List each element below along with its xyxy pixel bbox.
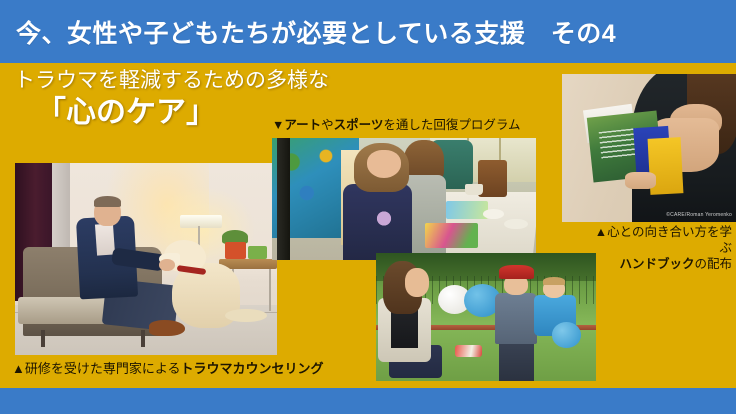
photo-counseling [15,163,277,355]
caption-handbook-bold: ハンドブック [619,257,694,271]
caption-art-program: ▼アートやスポーツを通した回復プログラム [272,118,521,133]
photo-counseling-dog-tail [225,309,267,322]
photo-art-cup [465,184,483,195]
photo-art-bowl-1 [483,209,504,219]
photo-balloon-boy1-legs [499,340,534,381]
photo-counseling-man-shoe [149,320,186,335]
photo-counseling-plant-pot-red [225,242,246,259]
photo-balloon-blue-small [552,322,581,348]
caption-art-bold-2: スポーツ [334,118,384,132]
photo-credit: ©CARE/Roman Yeromenko [666,212,732,218]
photo-balloon-activity [376,253,596,381]
caption-handbook: ▲心との向き合い方を学ぶ ハンドブックの配布 [586,224,732,272]
photo-art-painting-sheet-2 [446,201,488,218]
caption-art-tail: を通した回復プログラム [383,118,520,132]
caption-art-mid: や [321,118,334,132]
slide-footer-bar [0,388,736,414]
photo-handbook-fingers [625,172,656,190]
photo-counseling-lampshade [180,215,222,228]
photo-balloon-boy1-body [495,293,537,344]
caption-marker-up: ▲ [12,361,25,376]
photo-balloon-woman-face [405,268,429,296]
photo-art-child-1-shirt-print [372,206,396,230]
photo-balloon-boy2-hair [543,277,565,285]
photo-balloon-boy1-cap [499,265,534,279]
photo-counseling-sofa-leg-left [41,330,45,347]
caption-counseling-bold: トラウマカウンセリング [181,361,324,376]
photo-balloon-ground-object [455,345,481,357]
caption-handbook-line-2: ハンドブックの配布 [586,256,732,272]
caption-counseling-normal: 研修を受けた専門家による [25,361,181,376]
photo-counseling-man-hair [94,196,122,208]
caption-marker-down: ▼ [272,118,284,132]
photo-counseling-man-hand [159,259,175,271]
photo-art-workshop [272,138,536,260]
page-title: 今、女性や子どもたちが必要としている支援 その4 [16,14,616,50]
photo-counseling-sofa-leg-right [141,330,145,347]
caption-art-bold-1: アート [284,118,321,132]
photo-handbook: ©CARE/Roman Yeromenko [562,74,736,222]
photo-counseling-plant-pot-green [248,246,266,259]
slide-root: 今、女性や子どもたちが必要としている支援 その4 トラウマを軽減するための多様な… [0,0,736,414]
caption-handbook-line-1: ▲心との向き合い方を学ぶ [586,224,732,256]
slide-header: 今、女性や子どもたちが必要としている支援 その4 [0,0,736,63]
caption-counseling: ▲研修を受けた専門家によるトラウマカウンセリング [12,361,324,376]
caption-handbook-tail: の配布 [694,257,732,271]
photo-art-painting-sheet-1 [425,223,478,247]
photo-art-easel [277,138,290,260]
lead-subtitle: トラウマを軽減するための多様な [14,68,374,94]
